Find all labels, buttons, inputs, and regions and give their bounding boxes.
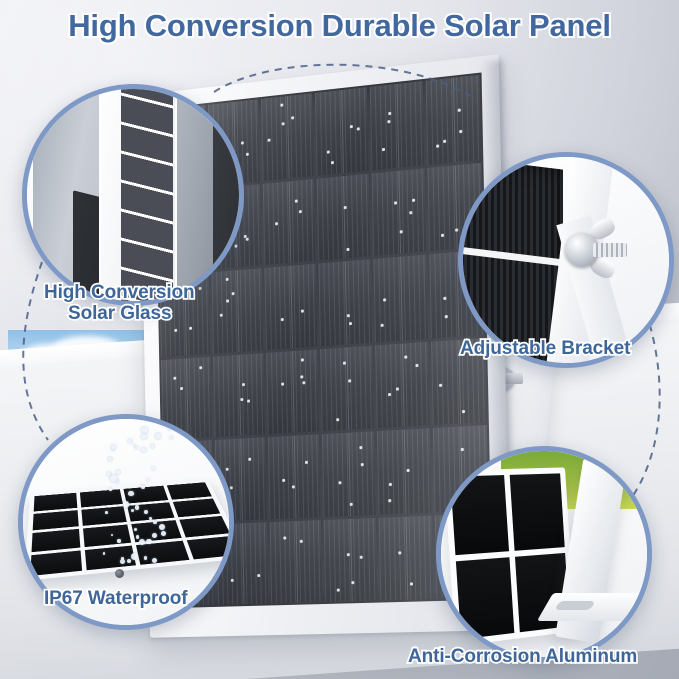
water-drop: [149, 517, 152, 520]
cell-marker: [258, 574, 261, 577]
feature-label-high-conversion-solar-glass: High Conversion Solar Glass: [44, 282, 195, 325]
cell-marker: [282, 479, 285, 482]
solar-cell: [30, 550, 81, 576]
cell-marker: [300, 375, 303, 378]
solar-cell: [172, 498, 220, 517]
cell-marker: [394, 201, 397, 204]
cell-marker: [246, 153, 249, 156]
cell-marker: [360, 464, 363, 467]
page-title: High Conversion Durable Solar Panel: [0, 8, 679, 44]
solar-cell: [317, 173, 371, 260]
solar-cell: [315, 87, 369, 175]
cell-marker: [281, 104, 284, 107]
layered-solar-glass-icon: [27, 89, 239, 301]
water-drop: [136, 535, 140, 539]
water-drop: [131, 509, 134, 512]
cell-marker: [380, 324, 383, 327]
water-drop: [128, 439, 132, 443]
water-drop: [117, 539, 120, 542]
cell-marker: [357, 127, 360, 130]
water-drop: [131, 553, 138, 560]
solar-cell: [263, 178, 316, 264]
water-drop: [110, 475, 117, 482]
solar-cell: [33, 510, 79, 530]
cell-marker: [189, 327, 192, 330]
cell-marker: [301, 310, 304, 313]
water-drop: [111, 445, 115, 449]
cell-marker: [396, 387, 399, 390]
cell-marker: [387, 120, 390, 123]
solar-cell: [370, 81, 425, 170]
cell-marker: [359, 446, 362, 449]
feature-label-ip67-waterproof: IP67 Waterproof: [44, 588, 188, 609]
cell-marker: [247, 400, 250, 403]
cell-marker: [281, 318, 284, 321]
water-drop: [135, 505, 140, 510]
cell-marker: [406, 469, 409, 472]
water-drop: [161, 531, 166, 536]
solar-cell: [377, 428, 432, 514]
cell-marker: [249, 458, 252, 461]
solar-cell: [320, 345, 374, 431]
cell-marker: [389, 483, 392, 486]
aluminum-frame-stand-icon: [441, 451, 647, 657]
cell-marker: [455, 228, 458, 231]
cell-marker: [399, 231, 402, 234]
callout-adjustable-bracket[interactable]: [458, 152, 674, 368]
solar-cell: [32, 529, 80, 552]
cell-marker: [284, 536, 287, 539]
cell-marker: [399, 552, 402, 555]
cell-marker: [200, 366, 203, 369]
water-drop: [168, 426, 172, 430]
label-line-2: Solar Glass: [44, 303, 195, 324]
cell-marker: [292, 485, 295, 488]
water-drop: [141, 448, 145, 452]
water-drop: [144, 510, 148, 514]
water-drop: [116, 480, 119, 483]
cell-marker: [347, 247, 350, 250]
wing-nut-bracket-icon: [463, 157, 669, 363]
solar-cell: [318, 259, 372, 346]
water-drop: [103, 552, 106, 555]
water-drop: [155, 433, 161, 439]
cell-marker: [246, 237, 249, 240]
cell-marker: [336, 418, 339, 421]
water-drop: [153, 521, 157, 525]
water-drop: [152, 533, 157, 538]
solar-cell: [264, 264, 317, 350]
solar-cell: [426, 75, 482, 165]
cell-marker: [349, 503, 352, 506]
water-drop: [141, 427, 148, 434]
water-drop: [151, 444, 155, 448]
water-drop: [121, 557, 124, 560]
cell-marker: [412, 199, 415, 202]
cell-marker: [344, 206, 347, 209]
cell-marker: [240, 398, 243, 401]
solar-cell: [261, 93, 314, 180]
solar-cell: [322, 431, 376, 516]
cell-marker: [338, 481, 341, 484]
cell-marker: [337, 588, 340, 591]
cell-marker: [415, 364, 418, 367]
water-drop: [146, 539, 151, 544]
cell-marker: [268, 138, 271, 141]
cell-marker: [404, 356, 407, 359]
solar-cell: [186, 536, 234, 560]
cell-marker: [382, 147, 385, 150]
cell-marker: [180, 387, 183, 390]
cell-marker: [439, 384, 442, 387]
water-drop: [105, 511, 108, 514]
cell-marker: [444, 297, 447, 300]
solar-cell: [34, 493, 77, 511]
cell-marker: [436, 145, 439, 148]
feature-label-anti-corrosion-aluminum: Anti-Corrosion Aluminum: [408, 646, 637, 667]
cell-marker: [326, 151, 329, 154]
cell-marker: [291, 116, 294, 119]
water-drop: [170, 436, 172, 438]
cell-marker: [388, 499, 391, 502]
label-line-1: High Conversion: [44, 282, 195, 303]
water-drop: [141, 485, 145, 489]
cell-marker: [349, 379, 352, 382]
cell-marker: [441, 234, 444, 237]
callout-high-conversion-solar-glass[interactable]: [22, 84, 244, 306]
solar-cell: [270, 520, 323, 604]
cell-marker: [231, 578, 234, 581]
cell-marker: [383, 298, 386, 301]
water-drop: [111, 534, 113, 536]
water-drop: [116, 470, 120, 474]
cell-marker: [301, 359, 304, 362]
water-drop: [109, 488, 112, 491]
cell-marker: [302, 382, 305, 385]
cell-marker: [299, 210, 302, 213]
cell-marker: [443, 140, 446, 143]
cell-marker: [388, 393, 391, 396]
cell-marker: [230, 486, 233, 489]
cell-marker: [173, 377, 176, 380]
cell-marker: [445, 315, 448, 318]
cell-marker: [305, 461, 308, 464]
cell-marker: [347, 314, 350, 317]
cell-marker: [347, 553, 350, 556]
cell-marker: [460, 130, 463, 133]
infographic-canvas: High Conversion Durable Solar Panel High…: [0, 0, 679, 679]
water-drop: [147, 478, 149, 480]
cell-marker: [462, 410, 465, 413]
water-drop: [152, 558, 157, 563]
water-drop: [120, 559, 125, 564]
water-drop: [144, 556, 148, 560]
cell-marker: [281, 123, 284, 126]
cell-marker: [242, 383, 245, 386]
water-drop: [139, 539, 145, 545]
water-drop: [127, 559, 131, 563]
cell-marker: [241, 141, 244, 144]
water-drop: [108, 457, 112, 461]
solar-cell: [373, 255, 428, 342]
solar-cell: [268, 434, 321, 518]
callout-anti-corrosion-aluminum[interactable]: [436, 446, 652, 662]
water-drop: [134, 528, 137, 531]
solar-cell: [375, 341, 430, 428]
cell-marker: [389, 112, 392, 115]
cell-marker: [349, 322, 352, 325]
cell-marker: [282, 382, 285, 385]
cell-marker: [300, 540, 303, 543]
cell-marker: [410, 211, 413, 214]
solar-cell: [179, 516, 230, 537]
solar-cell: [266, 349, 319, 434]
cell-marker: [220, 314, 223, 317]
feature-label-adjustable-bracket: Adjustable Bracket: [460, 338, 630, 359]
solar-cell: [324, 517, 378, 602]
water-drop: [123, 501, 130, 508]
water-drop: [152, 467, 155, 470]
water-drop: [141, 434, 147, 440]
water-drop: [159, 524, 165, 530]
cell-marker: [351, 581, 354, 584]
cell-marker: [342, 361, 345, 364]
cell-marker: [294, 200, 297, 203]
cell-marker: [174, 329, 177, 332]
cell-marker: [410, 583, 413, 586]
cell-marker: [349, 125, 352, 128]
solar-cell: [379, 515, 434, 600]
water-drop: [135, 446, 138, 449]
cell-marker: [275, 223, 278, 226]
cell-marker: [360, 555, 363, 558]
water-drop: [132, 493, 134, 495]
water-droplets: [101, 415, 175, 565]
solar-cell: [372, 168, 427, 256]
cell-marker: [458, 109, 461, 112]
cell-marker: [331, 161, 334, 164]
